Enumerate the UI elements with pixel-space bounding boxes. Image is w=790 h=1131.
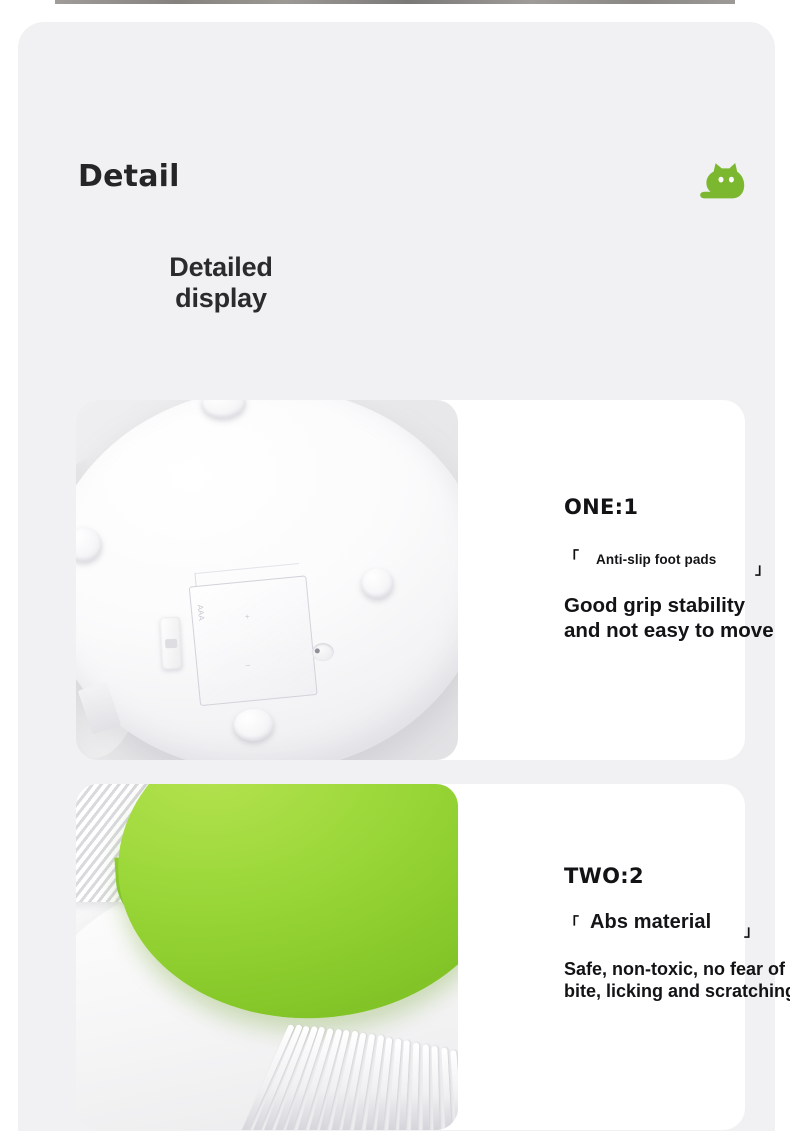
detail-card: +–AAA ONE:1 「 Anti-slip foot pads 」 Good… [76, 400, 745, 760]
detail-feature-label: Anti-slip foot pads [596, 552, 716, 567]
detail-blurb-line2: bite, licking and scratching [564, 981, 790, 1001]
bracket-close-icon: 」 [744, 920, 759, 941]
section-heading: Detailed display [122, 252, 320, 315]
bracket-open-icon: 「 [564, 912, 579, 933]
detail-panel: Detail Detailed display +– [18, 22, 775, 1131]
battery-compartment: +–AAA [189, 575, 318, 706]
previous-image-sliver [55, 0, 735, 4]
detail-kicker: ONE:1 [564, 495, 638, 519]
detail-blurb-line2: and not easy to move [564, 619, 774, 642]
foot-pad [201, 400, 247, 419]
detail-blurb-line1: Good grip stability [564, 594, 745, 617]
detail-kicker: TWO:2 [564, 864, 644, 888]
product-green-lid-comb-photo [76, 784, 458, 1130]
detail-card: TWO:2 「 Abs material 」 Safe, non-toxic, … [76, 784, 745, 1130]
detail-text-column: TWO:2 「 Abs material 」 Safe, non-toxic, … [486, 784, 790, 1130]
comb-teeth [221, 970, 458, 1130]
detail-blurb: Safe, non-toxic, no fear of bite, lickin… [564, 959, 790, 1002]
bracket-open-icon: 「 [564, 546, 579, 567]
foot-pad [233, 708, 275, 742]
product-underside-foot-pads-photo: +–AAA [76, 400, 458, 760]
detail-page: Detail Detailed display +– [0, 0, 790, 1131]
detail-feature-label: Abs material [590, 911, 711, 934]
foot-pad [76, 527, 103, 563]
foot-pad [361, 567, 395, 599]
screw-hole [311, 643, 334, 662]
detail-blurb: Good grip stability and not easy to move [564, 594, 774, 643]
cat-icon [699, 162, 751, 204]
detail-text-column: ONE:1 「 Anti-slip foot pads 」 Good grip … [486, 400, 790, 760]
bracket-close-icon: 」 [755, 558, 770, 579]
page-title: Detail [78, 159, 180, 194]
detail-blurb-line1: Safe, non-toxic, no fear of [564, 959, 785, 979]
section-heading-line2: display [175, 283, 267, 313]
section-heading-line1: Detailed [169, 252, 272, 282]
power-switch [160, 617, 183, 670]
